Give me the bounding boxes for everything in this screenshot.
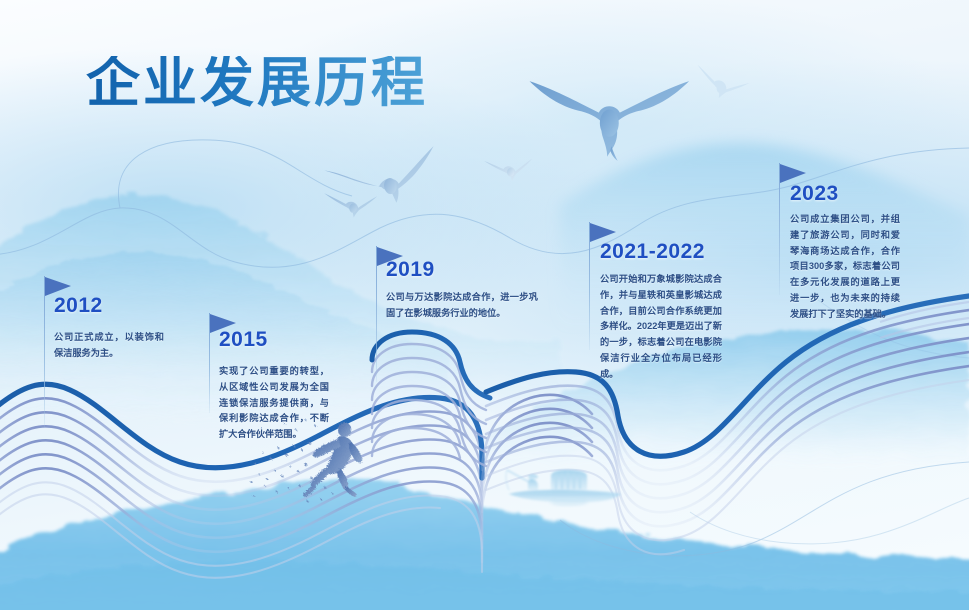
milestone-year: 2023	[790, 182, 839, 206]
milestone-description: 实现了公司重要的转型，从区域性公司发展为全国连锁保洁服务提供商，与保利影院达成合…	[219, 364, 329, 443]
ribbon-right	[486, 296, 969, 554]
bird-medium	[323, 146, 441, 212]
milestone-description: 公司正式成立，以装饰和保洁服务为主。	[54, 330, 164, 362]
milestone-year: 2019	[386, 258, 435, 282]
ribbon-twist-left	[482, 395, 592, 512]
milestone-year: 2021-2022	[600, 240, 705, 264]
milestone-description: 公司与万达影院达成合作，进一步巩固了在影城服务行业的地位。	[386, 290, 538, 322]
bird-large	[530, 81, 690, 161]
milestone-description: 公司成立集团公司，并组建了旅游公司，同时和爱琴海商场达成合作，合作项目300多家…	[790, 212, 900, 323]
bird-small	[484, 159, 532, 181]
milestone-year: 2015	[219, 328, 268, 352]
milestone-description: 公司开始和万象城影院达成合作，并与星轶和英皇影城达成合作，目前公司合作系统更加多…	[600, 272, 722, 383]
page-title: 企业发展历程	[86, 56, 428, 110]
milestone-year: 2012	[54, 294, 103, 318]
timeline-poster: 企业发展历程 2012公司正式成立，以装饰和保洁服务为主。2015实现了公司重要…	[0, 0, 969, 610]
ribbon-roll	[372, 332, 490, 466]
bird-top-right	[689, 62, 750, 107]
bird-small-left	[322, 191, 377, 220]
